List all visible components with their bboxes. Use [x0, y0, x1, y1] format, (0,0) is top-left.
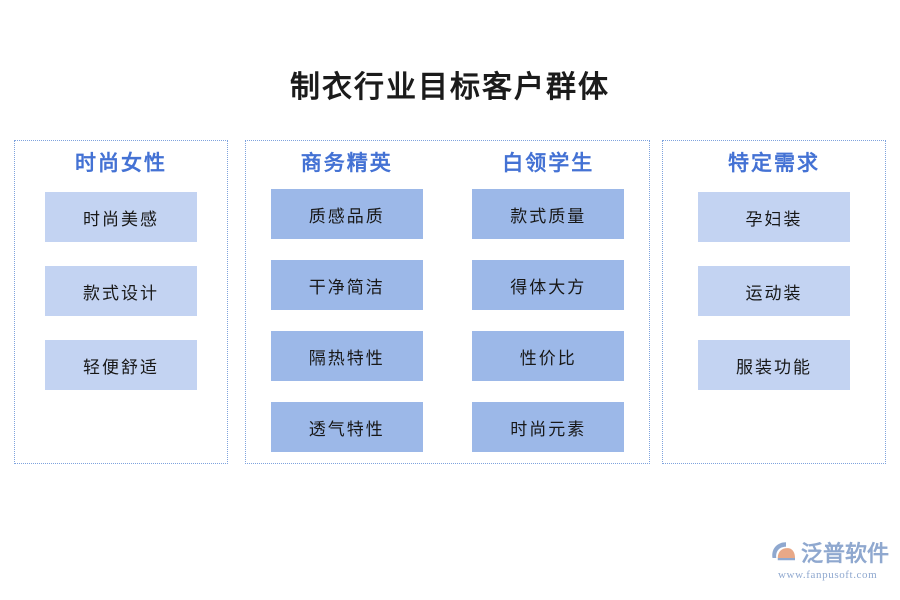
customer-group-panel: 特定需求孕妇装运动装服装功能 — [662, 140, 886, 464]
attribute-box[interactable]: 运动装 — [698, 266, 850, 316]
column-title: 时尚女性 — [75, 153, 167, 174]
customer-group-column: 时尚女性时尚美感款式设计轻便舒适 — [15, 141, 227, 463]
attribute-box[interactable]: 干净简洁 — [271, 260, 423, 310]
customer-group-column: 白领学生款式质量得体大方性价比时尚元素 — [448, 141, 650, 463]
attribute-box[interactable]: 款式设计 — [45, 266, 197, 316]
panel-columns: 特定需求孕妇装运动装服装功能 — [663, 141, 885, 463]
column-title: 特定需求 — [728, 153, 820, 174]
column-items: 孕妇装运动装服装功能 — [663, 192, 885, 390]
customer-group-column: 特定需求孕妇装运动装服装功能 — [663, 141, 885, 463]
panel-columns: 时尚女性时尚美感款式设计轻便舒适 — [15, 141, 227, 463]
attribute-box[interactable]: 透气特性 — [271, 402, 423, 452]
fanpu-logo-mark-icon — [768, 538, 798, 566]
customer-group-column: 商务精英质感品质干净简洁隔热特性透气特性 — [246, 141, 448, 463]
attribute-box[interactable]: 隔热特性 — [271, 331, 423, 381]
customer-group-panel: 时尚女性时尚美感款式设计轻便舒适 — [14, 140, 228, 464]
panel-columns: 商务精英质感品质干净简洁隔热特性透气特性白领学生款式质量得体大方性价比时尚元素 — [246, 141, 649, 463]
attribute-box[interactable]: 得体大方 — [472, 260, 624, 310]
attribute-box[interactable]: 孕妇装 — [698, 192, 850, 242]
attribute-box[interactable]: 轻便舒适 — [45, 340, 197, 390]
customer-group-panel: 商务精英质感品质干净简洁隔热特性透气特性白领学生款式质量得体大方性价比时尚元素 — [245, 140, 650, 464]
brand-logo: 泛普软件 www.fanpusoft.com — [768, 536, 890, 584]
page-title: 制衣行业目标客户群体 — [0, 62, 900, 106]
attribute-box[interactable]: 服装功能 — [698, 340, 850, 390]
column-items: 质感品质干净简洁隔热特性透气特性 — [246, 189, 448, 473]
brand-name: 泛普软件 — [801, 536, 889, 568]
attribute-box[interactable]: 时尚美感 — [45, 192, 197, 242]
attribute-box[interactable]: 质感品质 — [271, 189, 423, 239]
attribute-box[interactable]: 时尚元素 — [472, 402, 624, 452]
brand-url: www.fanpusoft.com — [778, 569, 890, 581]
column-title: 白领学生 — [502, 153, 594, 174]
column-title: 商务精英 — [301, 153, 393, 174]
attribute-box[interactable]: 性价比 — [472, 331, 624, 381]
attribute-box[interactable]: 款式质量 — [472, 189, 624, 239]
column-items: 款式质量得体大方性价比时尚元素 — [448, 189, 650, 473]
column-items: 时尚美感款式设计轻便舒适 — [15, 192, 227, 390]
